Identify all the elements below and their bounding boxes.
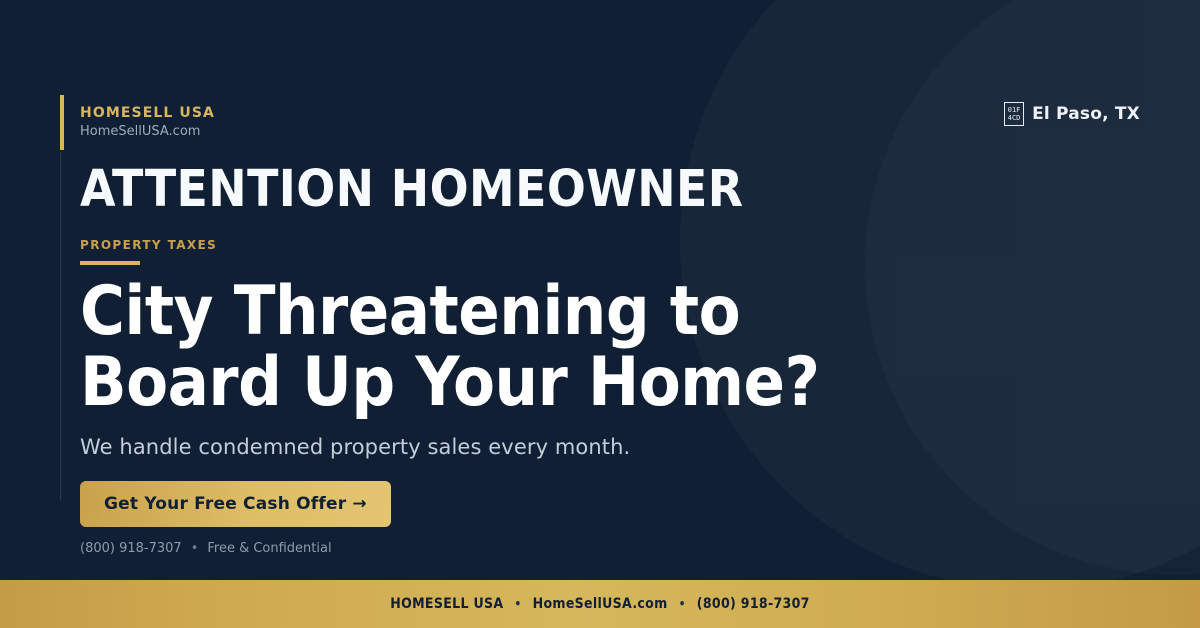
fineprint-row: (800) 918-7307 • Free & Confidential (80, 541, 332, 556)
map-pin-icon-hex-top: 01F (1008, 106, 1021, 114)
vertical-divider-rail (60, 152, 61, 500)
hero-subcopy: We handle condemned property sales every… (80, 435, 630, 459)
footer-separator-1: • (514, 597, 521, 611)
footer-website[interactable]: HomeSellUSA.com (533, 596, 668, 612)
hero-headline-line-1: City Threatening to (80, 276, 820, 347)
hero-headline-line-2: Board Up Your Home? (80, 347, 820, 418)
footer-phone[interactable]: (800) 918-7307 (697, 596, 810, 612)
map-pin-icon: 01F 4CD (1004, 102, 1024, 126)
gold-accent-rail (60, 95, 64, 150)
location-badge: 01F 4CD El Paso, TX (1004, 102, 1140, 126)
footer-separator-2: • (679, 597, 686, 611)
brand-website: HomeSellUSA.com (80, 122, 215, 142)
ad-banner: HOMESELL USA HomeSellUSA.com 01F 4CD El … (0, 0, 1200, 628)
brand-block: HOMESELL USA HomeSellUSA.com (80, 104, 215, 142)
fineprint-separator: • (191, 541, 199, 556)
footer-bar: HOMESELL USA • HomeSellUSA.com • (800) 9… (0, 580, 1200, 628)
brand-name: HOMESELL USA (80, 104, 215, 122)
category-eyebrow: PROPERTY TAXES (80, 238, 217, 252)
location-label: El Paso, TX (1032, 104, 1140, 124)
eyebrow-underline-rule (80, 261, 140, 265)
fineprint-phone[interactable]: (800) 918-7307 (80, 541, 182, 556)
fineprint-note: Free & Confidential (207, 541, 331, 556)
background-circle-small (865, 0, 1200, 575)
attention-headline: ATTENTION HOMEOWNER (80, 160, 744, 219)
footer-brand: HOMESELL USA (390, 596, 503, 612)
map-pin-icon-hex-bottom: 4CD (1008, 114, 1021, 122)
hero-headline: City Threatening to Board Up Your Home? (80, 276, 820, 418)
cta-button[interactable]: Get Your Free Cash Offer → (80, 481, 391, 527)
